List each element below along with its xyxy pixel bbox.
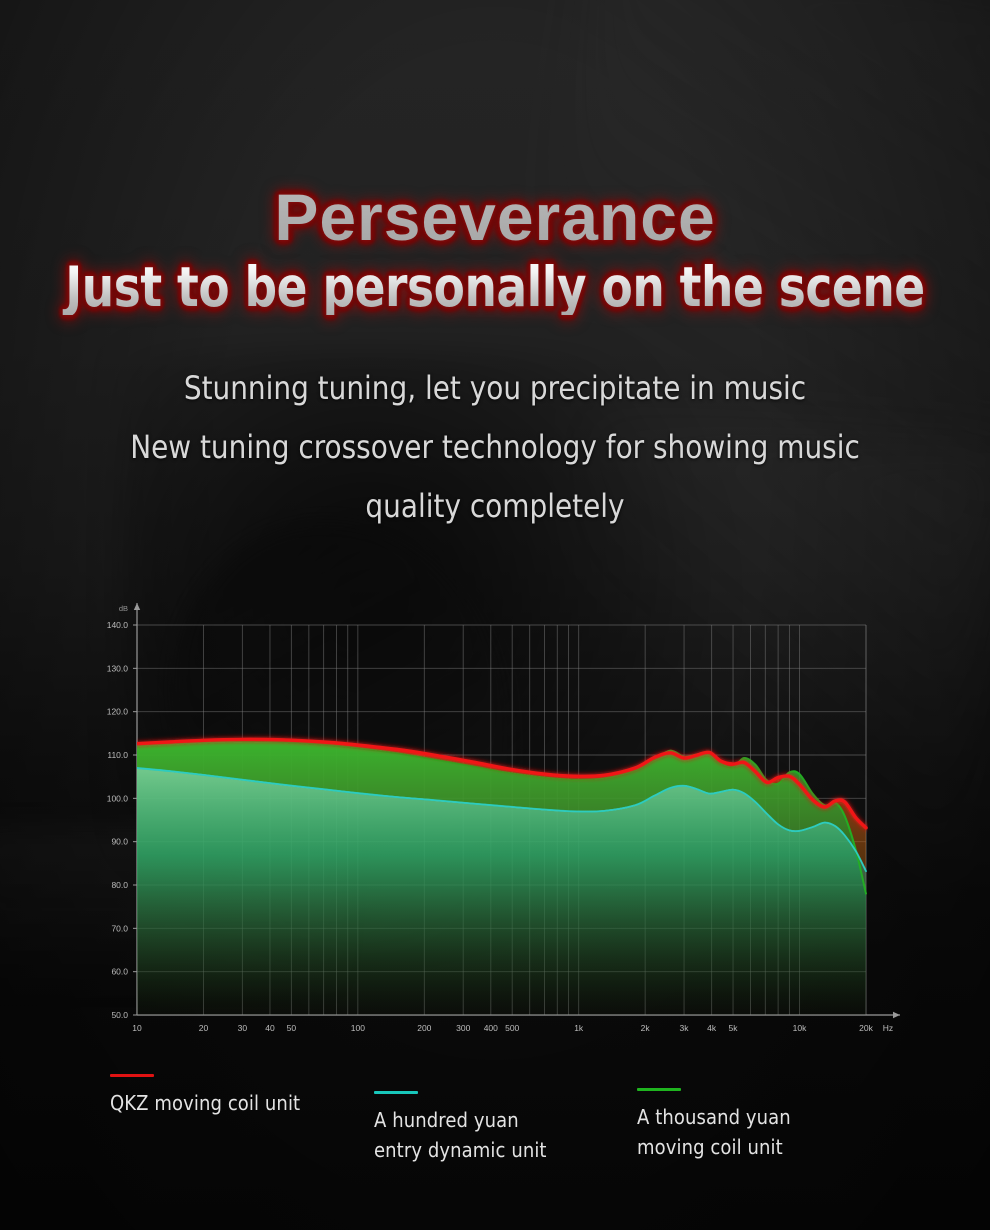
legend-swatch-cyan bbox=[374, 1091, 418, 1094]
svg-text:20k: 20k bbox=[859, 1023, 873, 1033]
legend-item-hundred-yuan: A hundred yuan entry dynamic unit bbox=[374, 1091, 547, 1165]
svg-text:20: 20 bbox=[199, 1023, 209, 1033]
svg-text:300: 300 bbox=[456, 1023, 470, 1033]
legend-item-thousand-yuan: A thousand yuan moving coil unit bbox=[637, 1088, 791, 1162]
svg-text:110.0: 110.0 bbox=[107, 750, 128, 760]
svg-text:3k: 3k bbox=[680, 1023, 690, 1033]
hero-description-line-1: Stunning tuning, let you precipitate in … bbox=[34, 359, 956, 418]
legend-swatch-red bbox=[110, 1074, 154, 1077]
svg-text:dB: dB bbox=[119, 604, 128, 613]
legend-swatch-green bbox=[637, 1088, 681, 1091]
svg-text:60.0: 60.0 bbox=[111, 967, 128, 977]
svg-text:50.0: 50.0 bbox=[111, 1010, 128, 1020]
frequency-response-chart: 140.0130.0120.0110.0100.090.080.070.060.… bbox=[0, 586, 990, 1056]
svg-text:10: 10 bbox=[132, 1023, 142, 1033]
chart-legend: QKZ moving coil unit A hundred yuan entr… bbox=[0, 1066, 990, 1176]
page-subtitle: Just to be personally on the scene bbox=[40, 250, 951, 315]
svg-text:200: 200 bbox=[417, 1023, 431, 1033]
svg-text:70.0: 70.0 bbox=[111, 923, 128, 933]
svg-text:5k: 5k bbox=[729, 1023, 739, 1033]
hero-description: Stunning tuning, let you precipitate in … bbox=[34, 315, 956, 536]
svg-text:400: 400 bbox=[484, 1023, 498, 1033]
hero-header: Perseverance Just to be personally on th… bbox=[0, 0, 990, 536]
legend-label-hundred-yuan: A hundred yuan entry dynamic unit bbox=[374, 1108, 547, 1162]
svg-text:100.0: 100.0 bbox=[107, 793, 129, 803]
svg-text:130.0: 130.0 bbox=[107, 663, 129, 673]
promo-page: Perseverance Just to be personally on th… bbox=[0, 0, 990, 1230]
svg-text:90.0: 90.0 bbox=[111, 837, 128, 847]
svg-text:140.0: 140.0 bbox=[107, 620, 129, 630]
svg-text:40: 40 bbox=[265, 1023, 275, 1033]
svg-text:50: 50 bbox=[287, 1023, 297, 1033]
hero-description-line-2: New tuning crossover technology for show… bbox=[34, 418, 956, 477]
svg-text:2k: 2k bbox=[641, 1023, 651, 1033]
legend-item-qkz: QKZ moving coil unit bbox=[110, 1074, 300, 1118]
svg-text:4k: 4k bbox=[707, 1023, 717, 1033]
svg-text:500: 500 bbox=[505, 1023, 519, 1033]
legend-label-qkz: QKZ moving coil unit bbox=[110, 1091, 300, 1115]
frequency-response-svg: 140.0130.0120.0110.0100.090.080.070.060.… bbox=[0, 586, 990, 1056]
page-title: Perseverance bbox=[0, 0, 990, 250]
svg-text:Hz: Hz bbox=[883, 1023, 893, 1033]
svg-text:100: 100 bbox=[351, 1023, 365, 1033]
hero-description-line-3: quality completely bbox=[34, 477, 956, 536]
svg-text:10k: 10k bbox=[793, 1023, 807, 1033]
legend-label-thousand-yuan: A thousand yuan moving coil unit bbox=[637, 1105, 791, 1159]
svg-text:1k: 1k bbox=[574, 1023, 584, 1033]
svg-text:30: 30 bbox=[238, 1023, 248, 1033]
svg-text:80.0: 80.0 bbox=[111, 880, 128, 890]
svg-text:120.0: 120.0 bbox=[107, 707, 129, 717]
